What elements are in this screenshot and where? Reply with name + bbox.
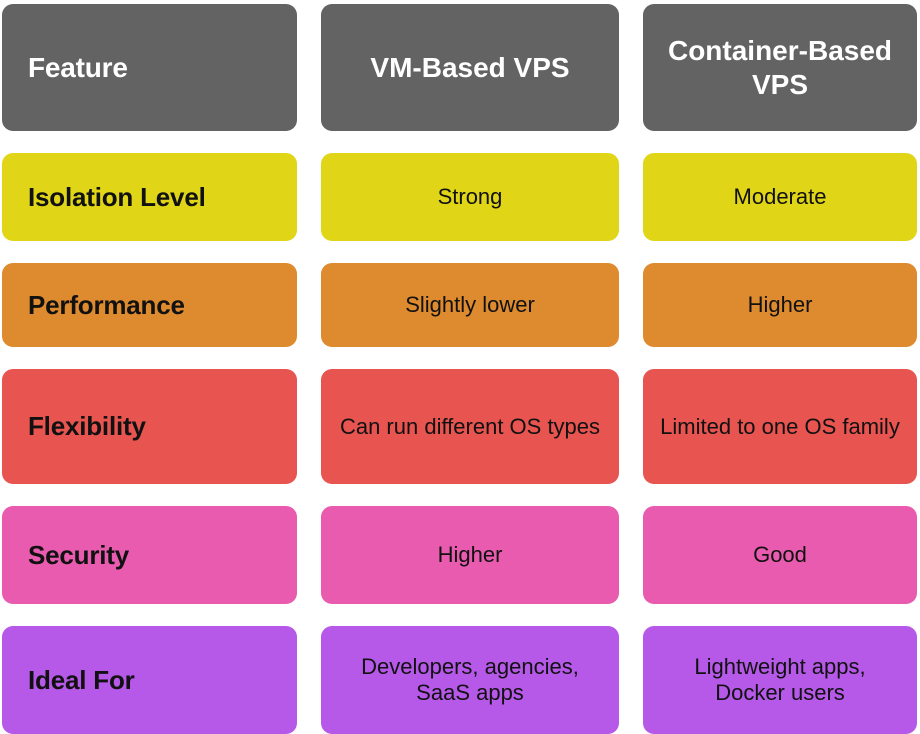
table-row: Ideal For Developers, agencies, SaaS app… — [2, 626, 917, 734]
vm-cell-flexibility: Can run different OS types — [321, 369, 619, 484]
header-label-vm: VM-Based VPS — [370, 51, 569, 84]
vm-value-isolation: Strong — [438, 184, 503, 210]
feature-label-performance: Performance — [28, 290, 185, 321]
container-value-security: Good — [753, 542, 807, 568]
feature-label-ideal-for: Ideal For — [28, 665, 135, 696]
feature-label-flexibility: Flexibility — [28, 411, 146, 442]
vm-value-flexibility: Can run different OS types — [340, 414, 600, 440]
container-cell-flexibility: Limited to one OS family — [643, 369, 917, 484]
container-value-flexibility: Limited to one OS family — [660, 414, 900, 440]
container-value-performance: Higher — [748, 292, 813, 318]
table-header-row: Feature VM-Based VPS Container-Based VPS — [2, 4, 917, 131]
comparison-table: Feature VM-Based VPS Container-Based VPS… — [0, 0, 920, 710]
header-cell-feature: Feature — [2, 4, 297, 131]
feature-cell-isolation: Isolation Level — [2, 153, 297, 241]
feature-cell-ideal-for: Ideal For — [2, 626, 297, 734]
container-cell-security: Good — [643, 506, 917, 604]
header-label-feature: Feature — [28, 51, 128, 84]
vm-cell-isolation: Strong — [321, 153, 619, 241]
container-cell-performance: Higher — [643, 263, 917, 347]
table-row: Flexibility Can run different OS types L… — [2, 369, 917, 484]
table-row: Security Higher Good — [2, 506, 917, 604]
feature-cell-flexibility: Flexibility — [2, 369, 297, 484]
container-value-ideal-for: Lightweight apps, Docker users — [659, 654, 901, 706]
header-cell-vm: VM-Based VPS — [321, 4, 619, 131]
container-cell-ideal-for: Lightweight apps, Docker users — [643, 626, 917, 734]
container-cell-isolation: Moderate — [643, 153, 917, 241]
vm-value-security: Higher — [438, 542, 503, 568]
table-row: Performance Slightly lower Higher — [2, 263, 917, 347]
vm-value-performance: Slightly lower — [405, 292, 535, 318]
header-cell-container: Container-Based VPS — [643, 4, 917, 131]
feature-cell-performance: Performance — [2, 263, 297, 347]
feature-label-security: Security — [28, 540, 129, 571]
vm-cell-ideal-for: Developers, agencies, SaaS apps — [321, 626, 619, 734]
feature-cell-security: Security — [2, 506, 297, 604]
vm-cell-security: Higher — [321, 506, 619, 604]
feature-label-isolation: Isolation Level — [28, 182, 206, 213]
vm-value-ideal-for: Developers, agencies, SaaS apps — [339, 654, 601, 706]
header-label-container: Container-Based VPS — [659, 34, 901, 101]
container-value-isolation: Moderate — [734, 184, 827, 210]
table-row: Isolation Level Strong Moderate — [2, 153, 917, 241]
vm-cell-performance: Slightly lower — [321, 263, 619, 347]
